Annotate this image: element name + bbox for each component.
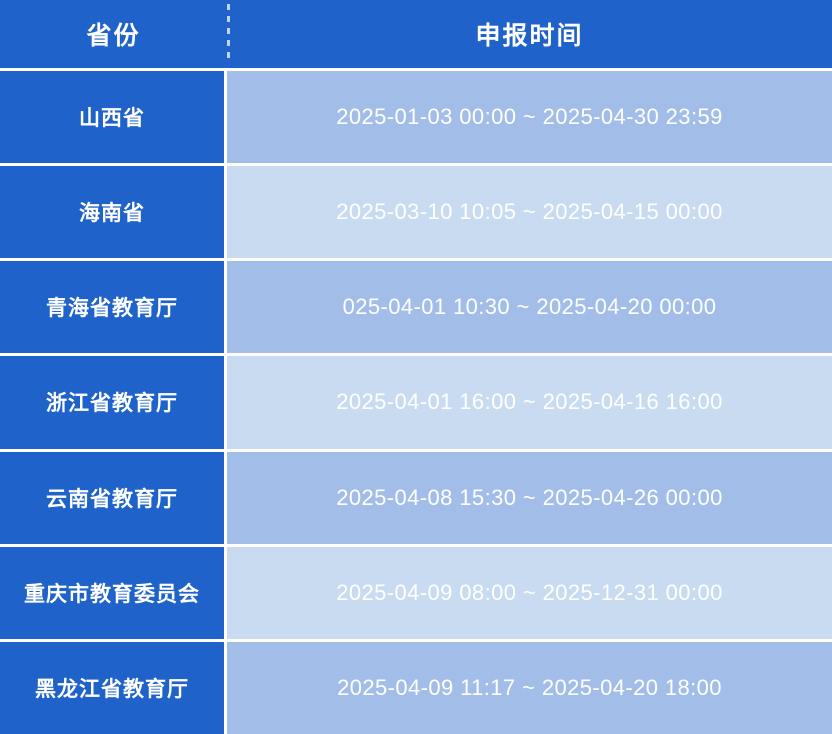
- table-row: 山西省 2025-01-03 00:00 ~ 2025-04-30 23:59: [0, 68, 832, 163]
- cell-application-time: 2025-03-10 10:05 ~ 2025-04-15 00:00: [227, 166, 832, 258]
- cell-province: 黑龙江省教育厅: [0, 642, 227, 734]
- table-row: 青海省教育厅 025-04-01 10:30 ~ 2025-04-20 00:0…: [0, 258, 832, 353]
- province-application-time-table: 省份 申报时间 山西省 2025-01-03 00:00 ~ 2025-04-3…: [0, 0, 832, 734]
- table-row: 云南省教育厅 2025-04-08 15:30 ~ 2025-04-26 00:…: [0, 449, 832, 544]
- cell-province: 青海省教育厅: [0, 261, 227, 353]
- cell-province: 山西省: [0, 71, 227, 163]
- table-row: 重庆市教育委员会 2025-04-09 08:00 ~ 2025-12-31 0…: [0, 544, 832, 639]
- cell-province: 云南省教育厅: [0, 452, 227, 544]
- cell-application-time: 2025-01-03 00:00 ~ 2025-04-30 23:59: [227, 71, 832, 163]
- cell-province: 海南省: [0, 166, 227, 258]
- cell-application-time: 2025-04-09 11:17 ~ 2025-04-20 18:00: [227, 642, 832, 734]
- cell-application-time: 2025-04-08 15:30 ~ 2025-04-26 00:00: [227, 452, 832, 544]
- table-body: 山西省 2025-01-03 00:00 ~ 2025-04-30 23:59 …: [0, 68, 832, 734]
- table-row: 浙江省教育厅 2025-04-01 16:00 ~ 2025-04-16 16:…: [0, 353, 832, 448]
- table-header-row: 省份 申报时间: [0, 0, 832, 68]
- header-column-divider: [227, 4, 230, 64]
- table-row: 海南省 2025-03-10 10:05 ~ 2025-04-15 00:00: [0, 163, 832, 258]
- column-header-province: 省份: [0, 0, 227, 68]
- cell-application-time: 025-04-01 10:30 ~ 2025-04-20 00:00: [227, 261, 832, 353]
- cell-application-time: 2025-04-09 08:00 ~ 2025-12-31 00:00: [227, 547, 832, 639]
- cell-province: 重庆市教育委员会: [0, 547, 227, 639]
- table-row: 黑龙江省教育厅 2025-04-09 11:17 ~ 2025-04-20 18…: [0, 639, 832, 734]
- cell-province: 浙江省教育厅: [0, 356, 227, 448]
- column-header-application-time: 申报时间: [227, 0, 832, 68]
- cell-application-time: 2025-04-01 16:00 ~ 2025-04-16 16:00: [227, 356, 832, 448]
